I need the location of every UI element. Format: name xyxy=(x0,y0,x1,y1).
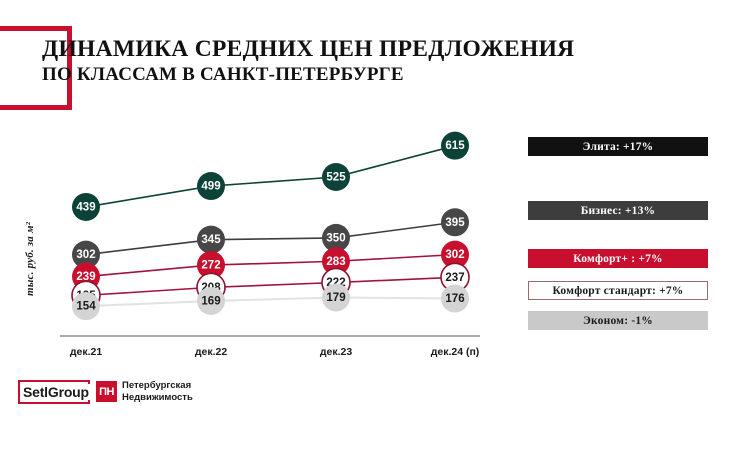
marker-value-label: 302 xyxy=(76,249,95,261)
legend-label-comfort-standard: Комфорт стандарт: +7% xyxy=(552,285,683,297)
data-point-marker[interactable]: 345 xyxy=(197,226,225,254)
marker-value-label: 237 xyxy=(445,272,464,284)
marker-value-label: 169 xyxy=(201,295,220,307)
petersburg-realty-line2: Недвижимость xyxy=(122,392,193,404)
series-line-1 xyxy=(86,222,455,254)
x-axis-tick-2: дек.23 xyxy=(320,346,352,358)
marker-value-label: 499 xyxy=(201,181,220,193)
legend-label-comfort-plus: Комфорт+ : +7% xyxy=(573,253,662,265)
infographic-root: ДИНАМИКА СРЕДНИХ ЦЕН ПРЕДЛОЖЕНИЯ ПО КЛАС… xyxy=(0,0,740,473)
legend-item-econom[interactable]: Эконом: -1% xyxy=(528,311,708,330)
series-line-4 xyxy=(86,297,455,306)
petersburg-realty-logo-text: Петербургская Недвижимость xyxy=(122,380,193,404)
marker-value-label: 272 xyxy=(201,260,220,272)
marker-value-label: 439 xyxy=(76,201,95,213)
marker-value-label: 302 xyxy=(445,249,464,261)
legend-item-comfort-standard[interactable]: Комфорт стандарт: +7% xyxy=(528,281,708,300)
petersburg-realty-logo-mark: ПН xyxy=(96,381,117,402)
page-title: ДИНАМИКА СРЕДНИХ ЦЕН ПРЕДЛОЖЕНИЯ xyxy=(42,36,574,62)
setl-group-logo-text: SetlGroup xyxy=(22,384,90,400)
header: ДИНАМИКА СРЕДНИХ ЦЕН ПРЕДЛОЖЕНИЯ ПО КЛАС… xyxy=(0,0,740,118)
legend-label-econom: Эконом: -1% xyxy=(583,315,653,327)
chart-area: тыс. руб. за м² 439499525615302345350395… xyxy=(0,118,520,373)
line-chart-svg: 4394995256153023453503952392722833021852… xyxy=(0,118,520,350)
marker-value-label: 345 xyxy=(201,234,221,246)
page-subtitle: ПО КЛАССАМ В САНКТ-ПЕТЕРБУРГЕ xyxy=(42,64,574,86)
marker-value-label: 283 xyxy=(326,256,345,268)
footer: SetlGroup ПН Петербургская Недвижимость xyxy=(0,375,740,421)
x-axis-tick-3: дек.24 (п) xyxy=(431,346,480,358)
series-line-0 xyxy=(86,146,455,207)
legend-item-business[interactable]: Бизнес: +13% xyxy=(528,201,708,220)
legend-label-elite: Элита: +17% xyxy=(583,141,654,153)
x-axis-tick-0: дек.21 xyxy=(70,346,102,358)
marker-value-label: 395 xyxy=(445,217,465,229)
legend: Элита: +17% Бизнес: +13% Комфорт+ : +7% … xyxy=(524,118,740,338)
data-point-marker[interactable]: 499 xyxy=(197,172,225,200)
series-line-2 xyxy=(86,255,455,277)
petersburg-realty-line1: Петербургская xyxy=(122,380,193,392)
marker-value-label: 176 xyxy=(445,293,464,305)
marker-value-label: 525 xyxy=(326,172,346,184)
legend-label-business: Бизнес: +13% xyxy=(581,205,655,217)
legend-item-elite[interactable]: Элита: +17% xyxy=(528,137,708,156)
data-point-marker[interactable]: 395 xyxy=(441,208,469,236)
x-axis-labels: дек.21дек.22дек.23дек.24 (п) xyxy=(0,346,520,372)
marker-value-label: 350 xyxy=(326,232,345,244)
marker-value-label: 154 xyxy=(76,301,96,313)
marker-value-label: 179 xyxy=(326,292,345,304)
x-axis-tick-1: дек.22 xyxy=(195,346,227,358)
data-point-marker[interactable]: 179 xyxy=(322,283,350,311)
data-point-marker[interactable]: 439 xyxy=(72,193,100,221)
data-point-marker[interactable]: 169 xyxy=(197,287,225,315)
data-point-marker[interactable]: 525 xyxy=(322,163,350,191)
data-point-marker[interactable]: 615 xyxy=(441,132,469,160)
data-point-marker[interactable]: 176 xyxy=(441,285,469,313)
legend-item-comfort-plus[interactable]: Комфорт+ : +7% xyxy=(528,249,708,268)
title-block: ДИНАМИКА СРЕДНИХ ЦЕН ПРЕДЛОЖЕНИЯ ПО КЛАС… xyxy=(42,36,574,86)
marker-value-label: 615 xyxy=(445,140,465,152)
data-point-marker[interactable]: 154 xyxy=(72,292,100,320)
series-line-3 xyxy=(86,277,455,295)
